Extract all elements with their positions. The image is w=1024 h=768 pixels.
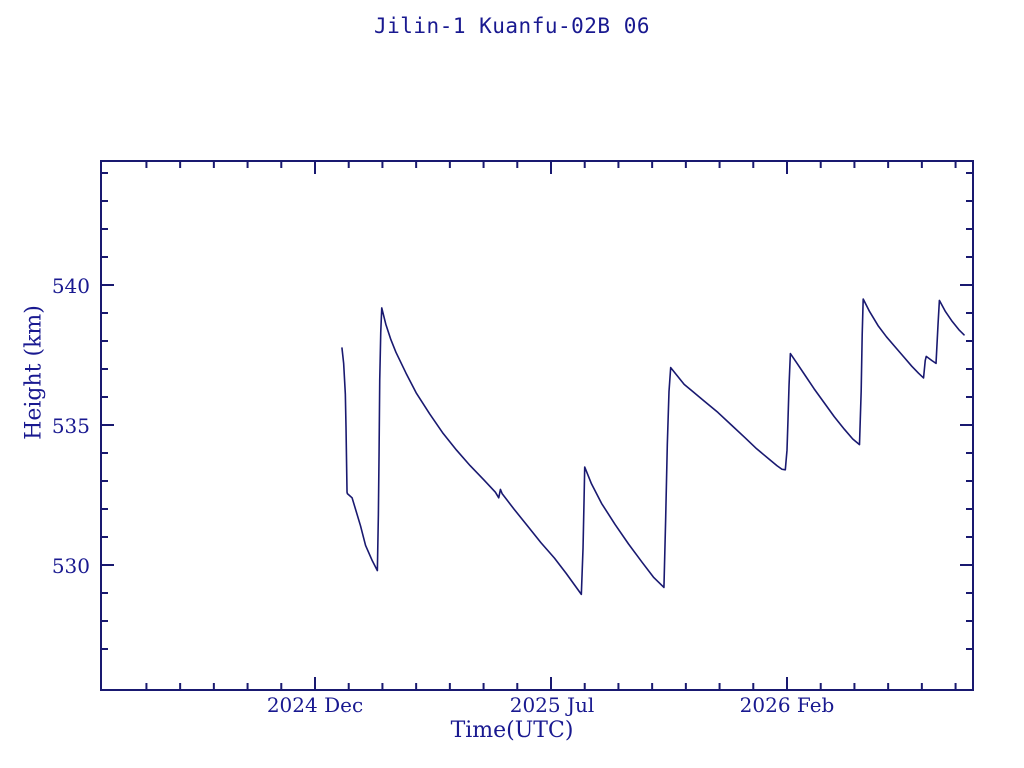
plot-canvas: [0, 0, 1024, 768]
data-line-orbit-height: [342, 299, 964, 594]
chart-figure: Jilin-1 Kuanfu-02B 06 Height (km) Time(U…: [0, 0, 1024, 768]
data-series-group: [342, 299, 964, 594]
